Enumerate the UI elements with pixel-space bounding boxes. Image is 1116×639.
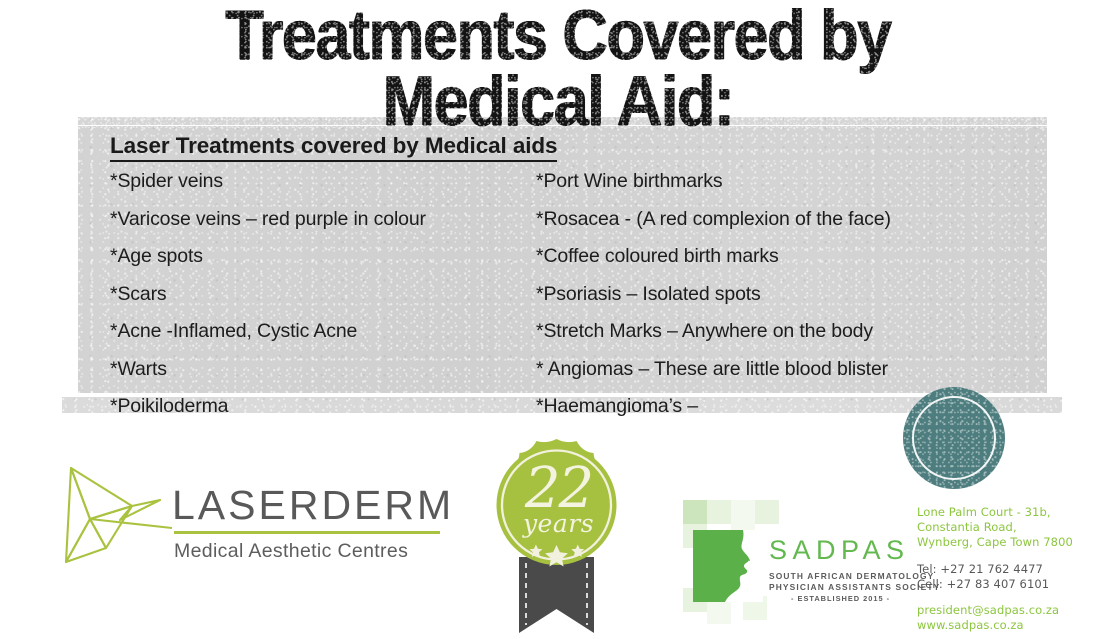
title-line-1: Treatments Covered by	[0, 4, 1116, 69]
address-line-1: Lone Palm Court - 31b,	[917, 505, 1112, 520]
list-item: *Rosacea - (A red complexion of the face…	[536, 210, 1036, 248]
list-item: *Spider veins	[110, 172, 530, 210]
laserderm-wordmark: LASERDERM	[172, 482, 454, 529]
badge-label: years	[481, 509, 636, 538]
list-item: *Varicose veins – red purple in colour	[110, 210, 530, 248]
sadpas-logo: SADPAS SOUTH AFRICAN DERMATOLOGY PHYSICI…	[683, 500, 918, 625]
address-line-3: Wynberg, Cape Town 7800	[917, 535, 1112, 550]
contact-tel: Tel: +27 21 762 4477	[917, 562, 1112, 577]
sadpas-tagline-1: SOUTH AFRICAN DERMATOLOGY	[769, 571, 934, 581]
contact-block: Lone Palm Court - 31b, Constantia Road, …	[917, 505, 1112, 633]
list-item: *Port Wine birthmarks	[536, 172, 1036, 210]
anniversary-badge: 22 years	[481, 437, 636, 637]
list-item: *Stretch Marks – Anywhere on the body	[536, 322, 1036, 360]
list-item: *Psoriasis – Isolated spots	[536, 285, 1036, 323]
laserderm-butterfly-icon	[60, 462, 172, 570]
contact-cell: Cell: +27 83 407 6101	[917, 577, 1112, 592]
teal-texture	[903, 387, 1005, 489]
sadpas-wordmark: SADPAS	[769, 535, 910, 566]
contact-web: president@sadpas.co.za www.sadpas.co.za	[917, 603, 1112, 633]
laserderm-rule	[174, 531, 440, 534]
contact-address: Lone Palm Court - 31b, Constantia Road, …	[917, 505, 1112, 551]
sadpas-established: - ESTABLISHED 2015 -	[791, 594, 890, 603]
sadpas-tagline-2: PHYSICIAN ASSISTANTS SOCIETY	[769, 582, 940, 592]
address-line-2: Constantia Road,	[917, 520, 1112, 535]
page-title: Treatments Covered by Medical Aid:	[0, 4, 1116, 128]
contact-website[interactable]: www.sadpas.co.za	[917, 618, 1112, 633]
list-item: *Coffee coloured birth marks	[536, 247, 1036, 285]
list-item: *Acne -Inflamed, Cystic Acne	[110, 322, 530, 360]
treatment-list-left: *Spider veins *Varicose veins – red purp…	[110, 172, 530, 435]
laserderm-tagline: Medical Aesthetic Centres	[174, 540, 408, 563]
list-item: *Poikiloderma	[110, 397, 530, 435]
contact-phones: Tel: +27 21 762 4477 Cell: +27 83 407 61…	[917, 562, 1112, 592]
teal-circle-watermark	[903, 387, 1005, 489]
list-item: *Scars	[110, 285, 530, 323]
laserderm-logo: LASERDERM Medical Aesthetic Centres	[60, 462, 460, 572]
list-item: *Warts	[110, 360, 530, 398]
contact-email[interactable]: president@sadpas.co.za	[917, 603, 1112, 618]
slide-canvas: Treatments Covered by Medical Aid: Laser…	[0, 0, 1116, 639]
list-item: *Age spots	[110, 247, 530, 285]
title-line-2: Medical Aid:	[0, 70, 1116, 135]
